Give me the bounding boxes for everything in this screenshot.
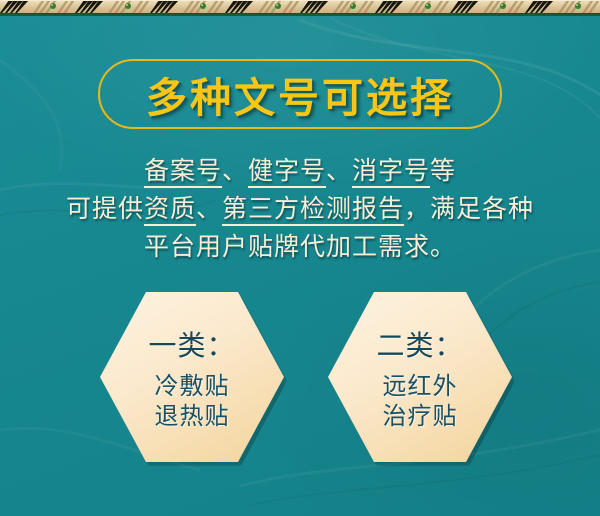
page-title: 多种文号可选择 bbox=[98, 59, 502, 129]
category-one-item-2: 退热贴 bbox=[155, 401, 230, 431]
border-band-underline bbox=[0, 13, 600, 16]
desc-sep: 、 bbox=[222, 156, 248, 185]
description-line-2: 可提供资质、第三方检测报告，满足各种 bbox=[0, 190, 600, 228]
desc-text: ，满足各种 bbox=[404, 194, 534, 223]
promo-poster: 多种文号可选择 备案号、健字号、消字号等 可提供资质、第三方检测报告，满足各种 … bbox=[0, 0, 600, 516]
category-one-item-1: 冷敷贴 bbox=[155, 371, 230, 401]
desc-sep: 、 bbox=[196, 194, 222, 223]
description-line-3: 平台用户贴牌代加工需求。 bbox=[0, 228, 600, 266]
category-two-item-1: 远红外 bbox=[383, 371, 458, 401]
desc-term: 备案号 bbox=[144, 156, 222, 188]
description-line-1: 备案号、健字号、消字号等 bbox=[0, 152, 600, 190]
desc-text: 可提供 bbox=[66, 194, 144, 223]
desc-term: 消字号 bbox=[352, 156, 430, 188]
category-two-content: 二类： 远红外 治疗贴 bbox=[328, 292, 512, 462]
category-two-title: 二类： bbox=[376, 324, 463, 364]
desc-text: 平台用户贴牌代加工需求。 bbox=[144, 232, 456, 261]
description-block: 备案号、健字号、消字号等 可提供资质、第三方检测报告，满足各种 平台用户贴牌代加… bbox=[0, 152, 600, 266]
desc-sep: 、 bbox=[326, 156, 352, 185]
category-two-item-2: 治疗贴 bbox=[383, 401, 458, 431]
desc-text: 等 bbox=[430, 156, 456, 185]
category-one-content: 一类： 冷敷贴 退热贴 bbox=[100, 292, 284, 462]
category-one-title: 一类： bbox=[148, 324, 235, 364]
desc-term: 资质 bbox=[144, 194, 196, 226]
desc-term: 健字号 bbox=[248, 156, 326, 188]
desc-term: 第三方检测报告 bbox=[222, 194, 404, 226]
